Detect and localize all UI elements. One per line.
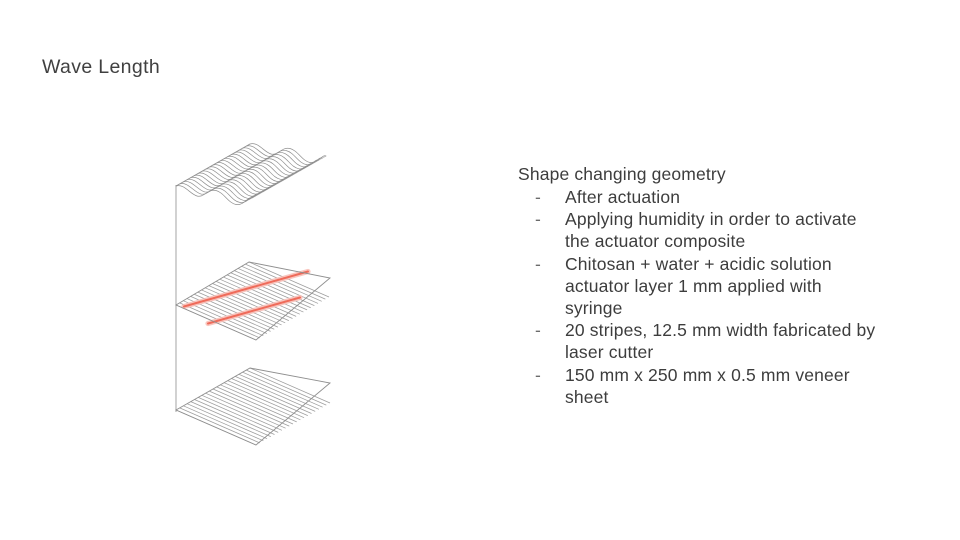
list-item: - Applying humidity in order to activate…	[518, 208, 878, 252]
list-item: - 20 stripes, 12.5 mm width fabricated b…	[518, 319, 878, 363]
bullet-list: - After actuation - Applying humidity in…	[518, 186, 878, 408]
bottom-layer	[176, 368, 330, 445]
list-item: - 150 mm x 250 mm x 0.5 mm veneer sheet	[518, 364, 878, 408]
list-item-label: 20 stripes, 12.5 mm width fabricated by …	[565, 319, 878, 363]
list-item-label: 150 mm x 250 mm x 0.5 mm veneer sheet	[565, 364, 878, 408]
list-item-label: Chitosan + water + acidic solution actua…	[565, 253, 878, 320]
content-heading: Shape changing geometry	[518, 163, 878, 185]
bullet-dash-icon: -	[535, 253, 541, 275]
list-item-label: After actuation	[565, 186, 878, 208]
list-item-label: Applying humidity in order to activate t…	[565, 208, 878, 252]
middle-layer	[176, 262, 330, 340]
content-panel: Shape changing geometry - After actuatio…	[518, 163, 878, 408]
top-layer-wavy-corrugations	[176, 144, 326, 205]
bullet-dash-icon: -	[535, 319, 541, 341]
list-item: - Chitosan + water + acidic solution act…	[518, 253, 878, 320]
diagram-exploded-actuator-stack	[140, 120, 400, 470]
bullet-dash-icon: -	[535, 364, 541, 386]
bullet-dash-icon: -	[535, 208, 541, 230]
diagram-svg	[140, 120, 400, 470]
bullet-dash-icon: -	[535, 186, 541, 208]
slide-canvas: Wave Length	[0, 0, 960, 540]
list-item: - After actuation	[518, 186, 878, 208]
bottom-layer-stripes	[176, 368, 330, 445]
top-layer	[176, 144, 326, 205]
page-title: Wave Length	[42, 54, 160, 80]
